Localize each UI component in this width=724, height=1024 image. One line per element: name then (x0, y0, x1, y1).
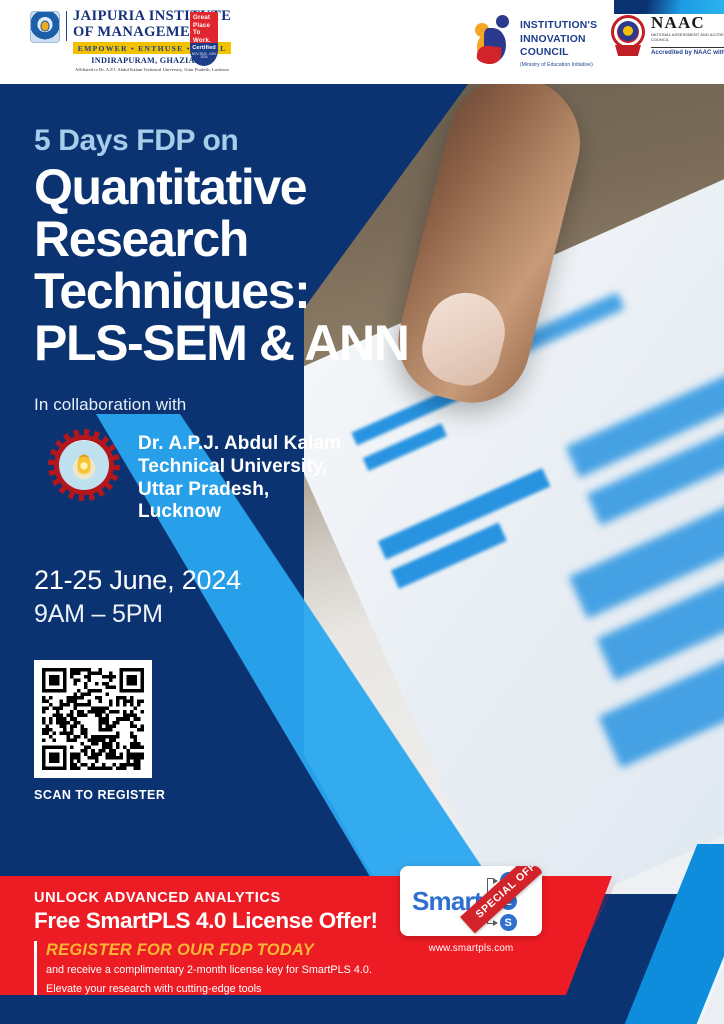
partner-line-2: Technical University, (138, 456, 341, 479)
iic-logo-group: INSTITUTION'S INNOVATION COUNCIL (Minist… (474, 15, 597, 68)
jaipuria-affiliation: Affiliated to Dr. A.P.J. Abdul Kalam Tec… (73, 67, 231, 72)
partner-line-1: Dr. A.P.J. Abdul Kalam (138, 433, 341, 456)
iic-subtitle: (Ministry of Education Initiative) (520, 62, 597, 68)
aktu-seal-icon (48, 429, 120, 501)
title-line-4: PLS-SEM & ANN (34, 317, 470, 369)
smartpls-url[interactable]: www.smartpls.com (400, 943, 542, 954)
schedule-block: 21-25 June, 2024 9AM – 5PM (34, 564, 470, 630)
event-dates: 21-25 June, 2024 (34, 564, 470, 598)
qr-block: SCAN TO REGISTER (34, 660, 470, 802)
partner-line-4: Lucknow (138, 501, 341, 524)
smartpls-logo-icon[interactable]: Smart P L S SPECIAL OFFER (400, 866, 542, 936)
offer-fine-line-1: and receive a complimentary 2-month lice… (46, 963, 372, 979)
naac-logo-group: NAAC NATIONAL ASSESSMENT AND ACCREDITATI… (610, 14, 724, 58)
iic-line2: INNOVATION (520, 33, 597, 47)
naac-wordmark: NAAC (651, 14, 724, 31)
iic-line1: INSTITUTION'S (520, 19, 597, 33)
partner-line-3: Uttar Pradesh, (138, 479, 341, 502)
naac-expansion: NATIONAL ASSESSMENT AND ACCREDITATION CO… (651, 33, 724, 43)
eyebrow-text: 5 Days FDP on (34, 124, 470, 157)
title-line-1: Quantitative (34, 161, 470, 213)
gptw-period: NOV 2023 - NOV 2024 (190, 53, 218, 60)
naac-accreditation: Accredited by NAAC with Grade 'A' (651, 47, 724, 56)
collaboration-label: In collaboration with (34, 395, 470, 415)
main-content: 5 Days FDP on Quantitative Research Tech… (0, 84, 470, 802)
divider (66, 11, 67, 41)
event-time: 9AM – 5PM (34, 598, 470, 631)
jaipuria-crest-icon (30, 11, 60, 43)
iic-line3: COUNCIL (520, 46, 597, 60)
gptw-certified: Certified (192, 45, 216, 51)
offer-rule (34, 941, 37, 997)
iic-swirl-logo-icon (474, 15, 514, 67)
qr-code-icon[interactable] (34, 660, 152, 778)
naac-seal-icon (610, 14, 646, 58)
title-line-2: Research (34, 213, 470, 265)
qr-caption: SCAN TO REGISTER (34, 788, 470, 802)
gptw-line3: To (193, 29, 215, 37)
offer-fine-line-2: Elevate your research with cutting-edge … (46, 982, 372, 998)
offer-subhead: REGISTER FOR OUR FDP TODAY (46, 941, 372, 960)
header-accent-stripe (614, 0, 724, 14)
smartpls-node-s: S (500, 914, 517, 931)
gptw-line2: Place (193, 22, 215, 30)
gptw-line1: Great (193, 14, 215, 22)
great-place-to-work-badge-icon: Great Place To Work. Certified NOV 2023 … (190, 12, 218, 66)
poster-canvas: JAIPURIA INSTITUTE OF MANAGEMENT EMPOWER… (0, 0, 724, 1024)
partner-row: Dr. A.P.J. Abdul Kalam Technical Univers… (34, 429, 470, 524)
title-line-3: Techniques: (34, 265, 470, 317)
header-logo-bar: JAIPURIA INSTITUTE OF MANAGEMENT EMPOWER… (0, 0, 724, 84)
